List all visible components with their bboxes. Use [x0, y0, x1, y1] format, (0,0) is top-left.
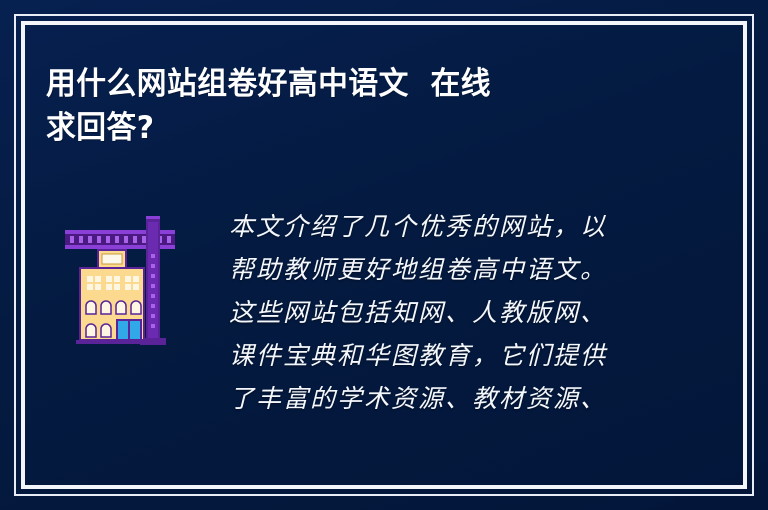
body-line-5: 了丰富的学术资源、教材资源、	[229, 377, 659, 420]
page-title: 用什么网站组卷好高中语文 在线 求回答?	[46, 62, 686, 150]
construction-crane-and-building-illustration	[62, 212, 194, 352]
title-line-1: 用什么网站组卷好高中语文 在线	[46, 62, 660, 106]
title-line-2: 求回答?	[46, 106, 660, 150]
building-icon	[76, 250, 148, 344]
body-paragraph: 本文介绍了几个优秀的网站，以 帮助教师更好地组卷高中语文。 这些网站包括知网、人…	[229, 205, 659, 420]
body-line-4: 课件宝典和华图教育，它们提供	[229, 334, 659, 377]
building-door-icon	[117, 320, 141, 340]
body-line-2: 帮助教师更好地组卷高中语文。	[229, 248, 659, 291]
body-line-1: 本文介绍了几个优秀的网站，以	[229, 205, 659, 248]
poster-card: 用什么网站组卷好高中语文 在线 求回答?	[0, 0, 768, 510]
body-line-3: 这些网站包括知网、人教版网、	[229, 291, 659, 334]
